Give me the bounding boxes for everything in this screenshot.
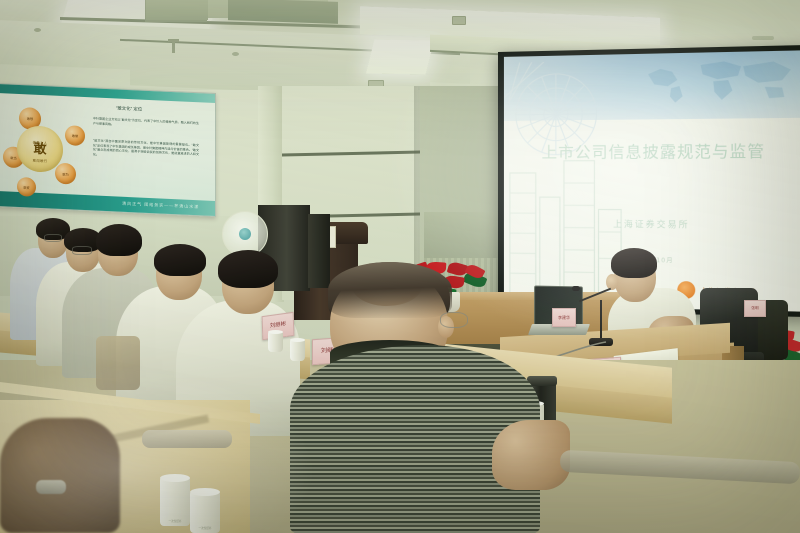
poster-orb-label-4: 敢变 [17,184,36,190]
paper-cup-6[interactable]: 一次性纸杯 [190,492,220,533]
foreground-glasses [440,312,468,328]
wristwatch [36,480,66,494]
attendee-2-glasses [72,246,92,255]
ceiling-rail-bracket [752,36,774,40]
placard-text-far: 张明 [745,307,765,311]
poster-core-bottom-label: 敢闯敢行 [33,159,48,164]
attendee-5-hair [218,250,278,288]
poster-orb-1: 敢做 [65,125,85,146]
attendee-1-glasses [44,234,62,242]
ceiling-light-panel-2 [366,39,434,74]
fan-hub [239,228,251,240]
cabinet-secondary [308,214,330,288]
conference-room-photo: 清风正气 团结务实——杯清山水漾 敢想 敢做 敢当 敢为 敢变 做事之人 敢 敢… [0,0,800,533]
placard-far: 张明 [744,300,766,317]
poster-footer-text: 清风正气 团结务实——杯清山水漾 [110,200,211,211]
attendee-4-hair [154,244,206,276]
speaker-hair [611,248,657,278]
poster-orb-label-1: 敢做 [65,133,85,139]
wall-poster: 清风正气 团结务实——杯清山水漾 敢想 敢做 敢当 敢为 敢变 做事之人 敢 敢… [0,83,216,217]
attendee-3-hair [96,224,142,256]
paper-cup-1[interactable] [268,332,283,352]
paper-cup-text-5: 一次性纸杯 [160,519,190,523]
poster-core-circle: 做事之人 敢 敢闯敢行 [17,125,63,173]
placard-speaker-back: 李建华 [552,308,576,327]
ceiling-spot-1 [34,28,41,32]
poster-heading: "敢文化" 定位 [89,104,169,114]
foreground-arm [492,420,570,490]
placard-text-speaker-back: 李建华 [553,316,575,320]
world-map-icon [640,55,800,106]
poster-paragraph-2: "敢文化"源自中国深厚文脉的传统文化，是中针集团管理的重要基石。"敢文化"定位表… [93,138,199,161]
foreground-chair-rail[interactable] [142,430,232,448]
foreground-blurred-arm [0,418,120,533]
poster-orb-label-0: 敢想 [19,116,41,122]
slide-organization: 上海证券交易所 [504,217,800,232]
poster-paragraph-1: 中针集团企业文化以"敢文化"为定位，代表了中针人的精神气质，融入我们的生产与做事… [93,116,199,130]
poster-orb-label-3: 敢为 [55,171,76,177]
foreground-hair-top [328,262,452,318]
slide-title: 上市公司信息披露规范与监管 [504,139,800,163]
paper-cup-5[interactable]: 一次性纸杯 [160,478,190,526]
foreground-chair-1[interactable] [96,336,140,390]
microphone-head [572,286,580,291]
ceiling-vent-1 [452,16,466,25]
ceiling-spot-2 [232,52,239,56]
poster-orb-4: 敢变 [17,177,36,197]
paper-cup-2[interactable] [290,340,305,361]
paper-cup-text-6: 一次性纸杯 [190,526,220,530]
